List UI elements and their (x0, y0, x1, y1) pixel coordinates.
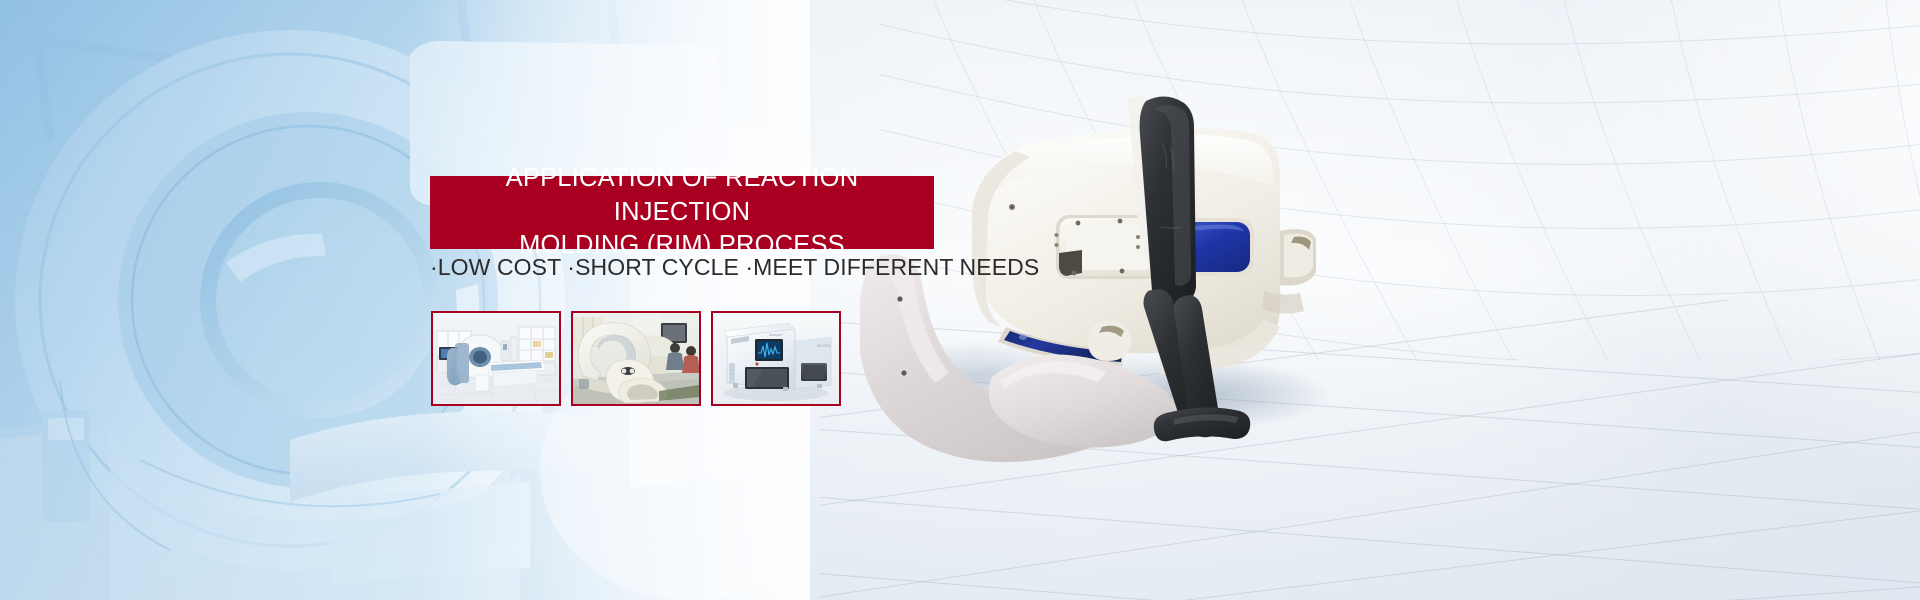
subtitle-text: ·LOW COST ·SHORT CYCLE ·MEET DIFFERENT N… (430, 254, 950, 281)
svg-text:Analyzer: Analyzer (769, 333, 783, 337)
svg-text:MODEL: MODEL (817, 343, 832, 348)
headline-text: APPLICATION OF REACTION INJECTION MOLDIN… (430, 162, 934, 264)
thumbnail-lab-analyzer[interactable]: MODEL Analyzer (711, 311, 841, 406)
headline-banner-box: APPLICATION OF REACTION INJECTION MOLDIN… (430, 176, 934, 249)
thumbnail-ct-scanner-room[interactable] (431, 311, 561, 406)
ct-image-fade-mask (420, 0, 810, 600)
hero-banner: APPLICATION OF REACTION INJECTION MOLDIN… (0, 0, 1920, 600)
small-white-foot (1088, 321, 1132, 361)
thumbnail-strip: MODEL Analyzer (431, 311, 841, 406)
thumbnail-ct-assembly-line[interactable] (571, 311, 701, 406)
background-ct-scanner-image (0, 0, 810, 600)
product-photo-group (860, 95, 1540, 515)
